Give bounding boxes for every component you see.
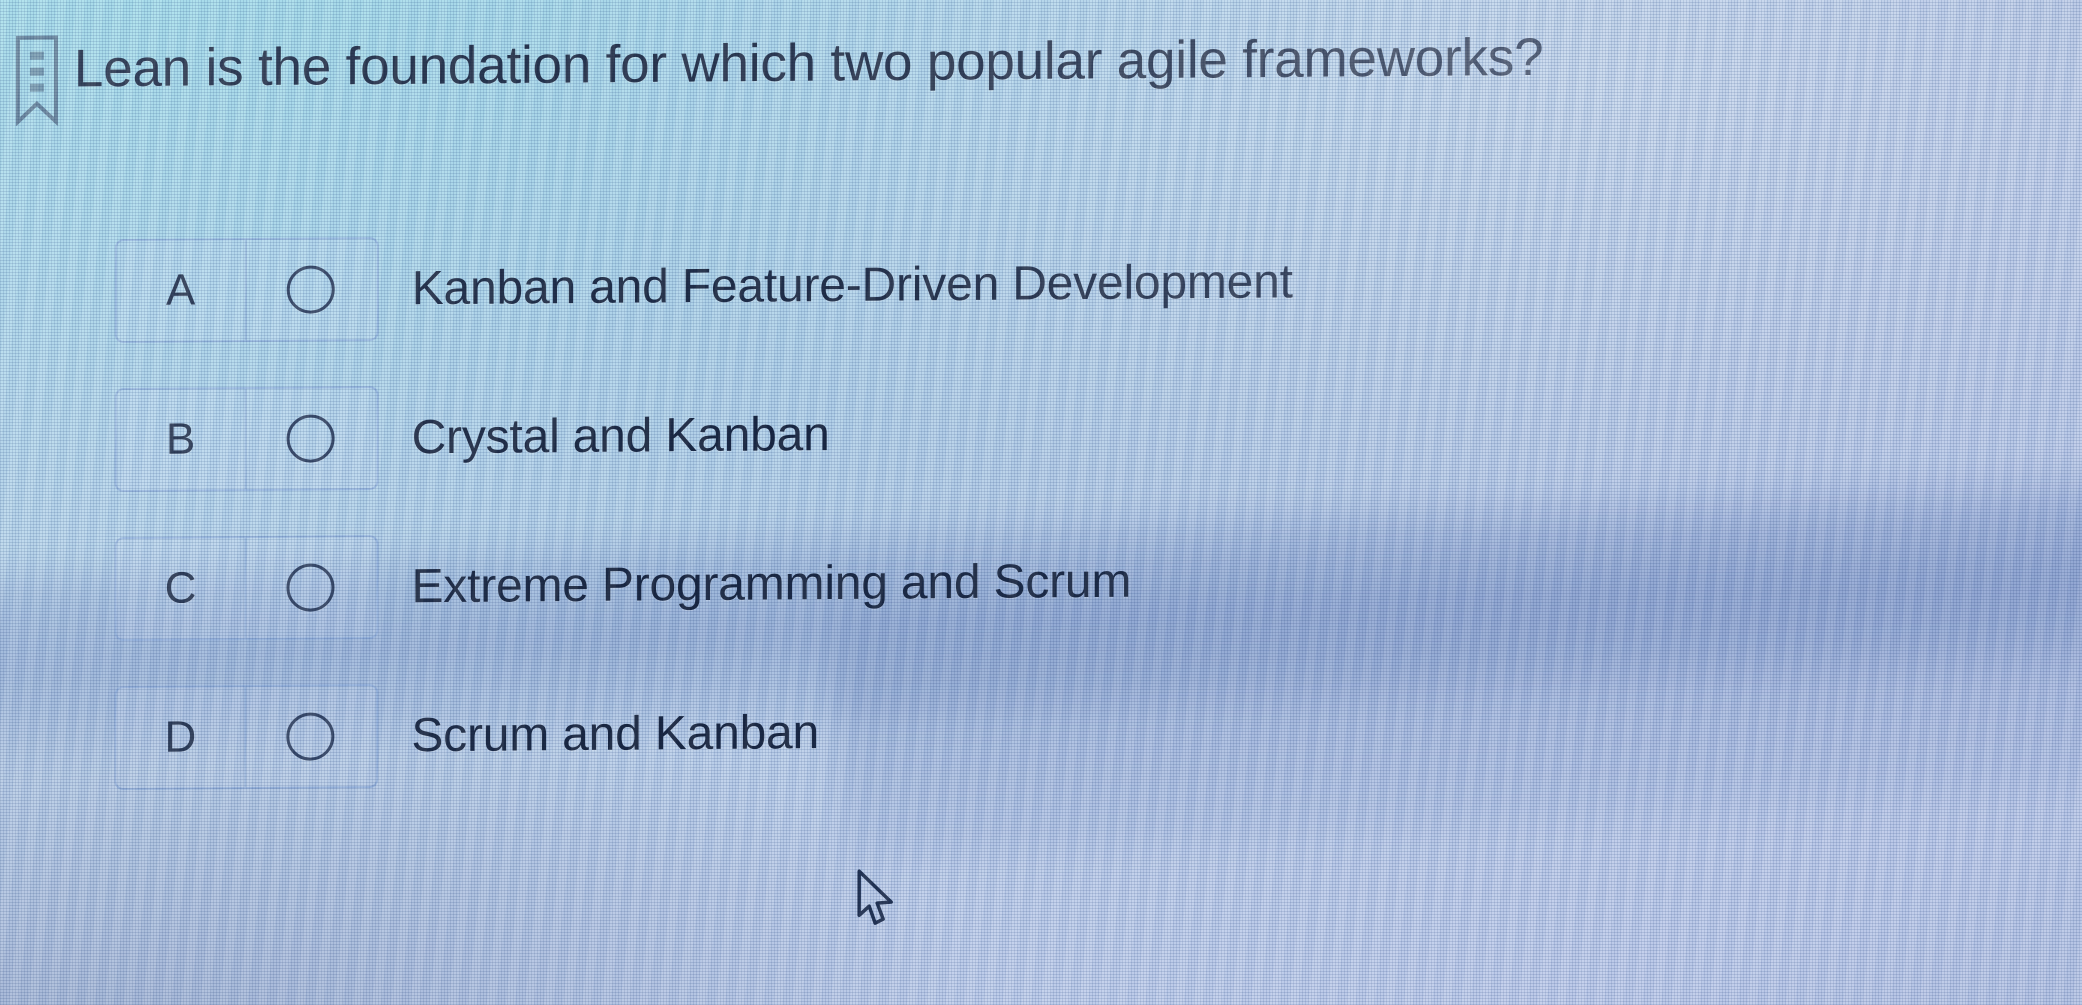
option-row-b[interactable]: B Crystal and Kanban [115,386,379,492]
answer-options-list: A Kanban and Feature-Driven Development … [114,237,378,790]
option-label-c[interactable]: Extreme Programming and Scrum [411,554,1131,615]
question-block: Lean is the foundation for which two pop… [0,16,1543,126]
option-row-c[interactable]: C Extreme Programming and Scrum [114,535,378,641]
option-letter-d: D [116,687,246,788]
bookmark-icon[interactable] [14,34,60,126]
quiz-content: Lean is the foundation for which two pop… [0,0,2082,1005]
option-letter-c: C [116,538,246,639]
radio-icon-a[interactable] [287,265,335,313]
option-radio-cell-a[interactable] [247,239,375,340]
option-row-a[interactable]: A Kanban and Feature-Driven Development [115,237,379,343]
option-label-a[interactable]: Kanban and Feature-Driven Development [412,254,1293,316]
radio-icon-d[interactable] [286,712,334,760]
radio-icon-c[interactable] [286,563,334,611]
screen-photo: Lean is the foundation for which two pop… [0,0,2082,1005]
option-letter-a: A [117,240,247,341]
mouse-pointer-icon [854,868,900,930]
radio-icon-b[interactable] [287,414,335,462]
question-text: Lean is the foundation for which two pop… [74,30,1544,97]
option-label-d[interactable]: Scrum and Kanban [411,705,819,763]
option-label-b[interactable]: Crystal and Kanban [412,407,830,465]
option-row-d[interactable]: D Scrum and Kanban [114,684,378,790]
option-radio-cell-c[interactable] [246,537,374,638]
option-radio-cell-d[interactable] [246,686,374,787]
option-radio-cell-b[interactable] [247,388,375,489]
option-letter-b: B [117,389,247,490]
